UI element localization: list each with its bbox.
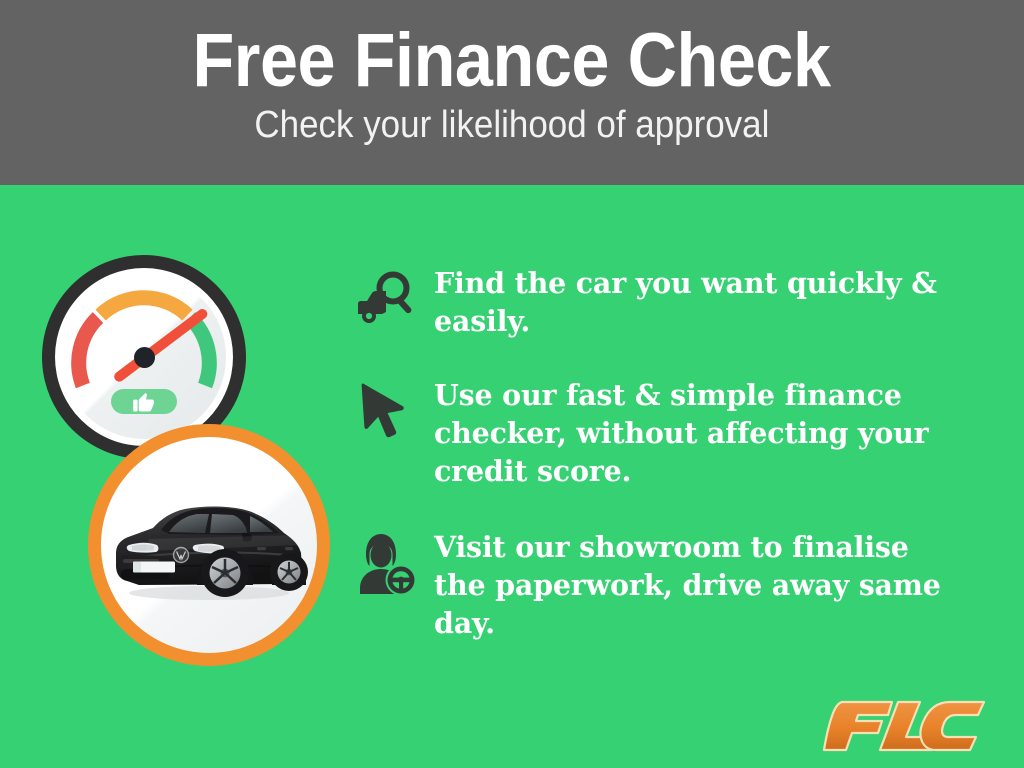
flc-logo[interactable] [818, 694, 998, 752]
thumbs-up-icon [132, 390, 156, 414]
feature-item-find-car: Find the car you want quickly & easily. [356, 262, 986, 340]
feature-text: Use our fast & simple finance checker, w… [434, 374, 944, 490]
feature-item-finance-checker: Use our fast & simple finance checker, w… [356, 374, 986, 490]
feature-icon-wrap [356, 374, 434, 452]
feature-list: Find the car you want quickly & easily. … [356, 262, 986, 666]
header-bar: Free Finance Check Check your likelihood… [0, 0, 1024, 185]
car-photo-ring [88, 424, 330, 666]
feature-text: Visit our showroom to finalise the paper… [434, 526, 944, 642]
feature-icon-wrap [356, 262, 434, 340]
car-photo [101, 437, 317, 653]
page-subtitle: Check your likelihood of approval [255, 102, 770, 148]
car-search-icon [356, 268, 418, 326]
car-illustration [109, 495, 309, 605]
person-steering-wheel-icon [356, 532, 418, 596]
gauge-hub [134, 347, 155, 368]
flc-logo-mark [818, 694, 998, 752]
gauge-approval-badge [111, 389, 177, 414]
feature-item-showroom: Visit our showroom to finalise the paper… [356, 526, 986, 642]
graphics-panel [0, 185, 360, 768]
feature-icon-wrap [356, 526, 434, 604]
gauge-face [62, 275, 226, 439]
feature-text: Find the car you want quickly & easily. [434, 262, 944, 340]
page-title: Free Finance Check [193, 18, 831, 104]
promo-banner: Free Finance Check Check your likelihood… [0, 0, 1024, 768]
cursor-pointer-icon [356, 380, 414, 442]
